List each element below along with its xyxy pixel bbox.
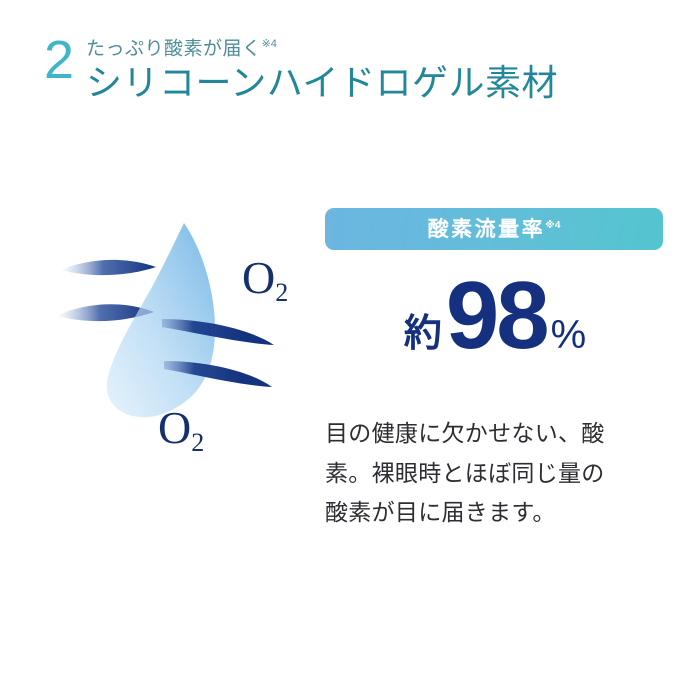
feature-panel: 2 たっぷり酸素が届く※4 シリコーンハイドロゲル素材 bbox=[0, 0, 700, 700]
eyebrow-footnote-ref: ※4 bbox=[262, 38, 277, 50]
page-title: シリコーンハイドロゲル素材 bbox=[86, 62, 558, 104]
ribbon-label-text: 酸素流量率 bbox=[428, 218, 546, 241]
header-text-group: たっぷり酸素が届く※4 シリコーンハイドロゲル素材 bbox=[86, 34, 558, 105]
eyebrow-text: たっぷり酸素が届く※4 bbox=[86, 38, 558, 60]
metric-column: 酸素流量率※4 約 98 % 目の健康に欠かせない、酸素。裸眼時とほぼ同じ量の酸… bbox=[325, 208, 665, 556]
description-text: 目の健康に欠かせない、酸素。裸眼時とほぼ同じ量の酸素が目に届きます。 bbox=[325, 414, 625, 533]
stat-approx-prefix: 約 bbox=[404, 315, 442, 353]
oxygen-flow-ribbon: 酸素流量率※4 bbox=[325, 208, 663, 250]
stat-value: 98 bbox=[446, 268, 547, 364]
lens-illustration-svg: O2 O2 bbox=[52, 215, 332, 465]
section-header: 2 たっぷり酸素が届く※4 シリコーンハイドロゲル素材 bbox=[44, 34, 558, 105]
contact-lens-shape bbox=[107, 223, 215, 417]
airflow-stroke-left-1 bbox=[60, 260, 156, 275]
oxygen-flow-stat: 約 98 % bbox=[325, 268, 665, 364]
lens-oxygen-illustration: O2 O2 bbox=[52, 215, 332, 465]
ribbon-label: 酸素流量率※4 bbox=[428, 219, 561, 240]
stat-unit: % bbox=[551, 315, 587, 355]
o2-label-upper: O2 bbox=[242, 252, 288, 307]
step-number: 2 bbox=[44, 36, 74, 86]
o2-label-lower: O2 bbox=[158, 402, 204, 457]
ribbon-footnote-ref: ※4 bbox=[545, 220, 560, 231]
eyebrow-label: たっぷり酸素が届く bbox=[86, 38, 262, 59]
